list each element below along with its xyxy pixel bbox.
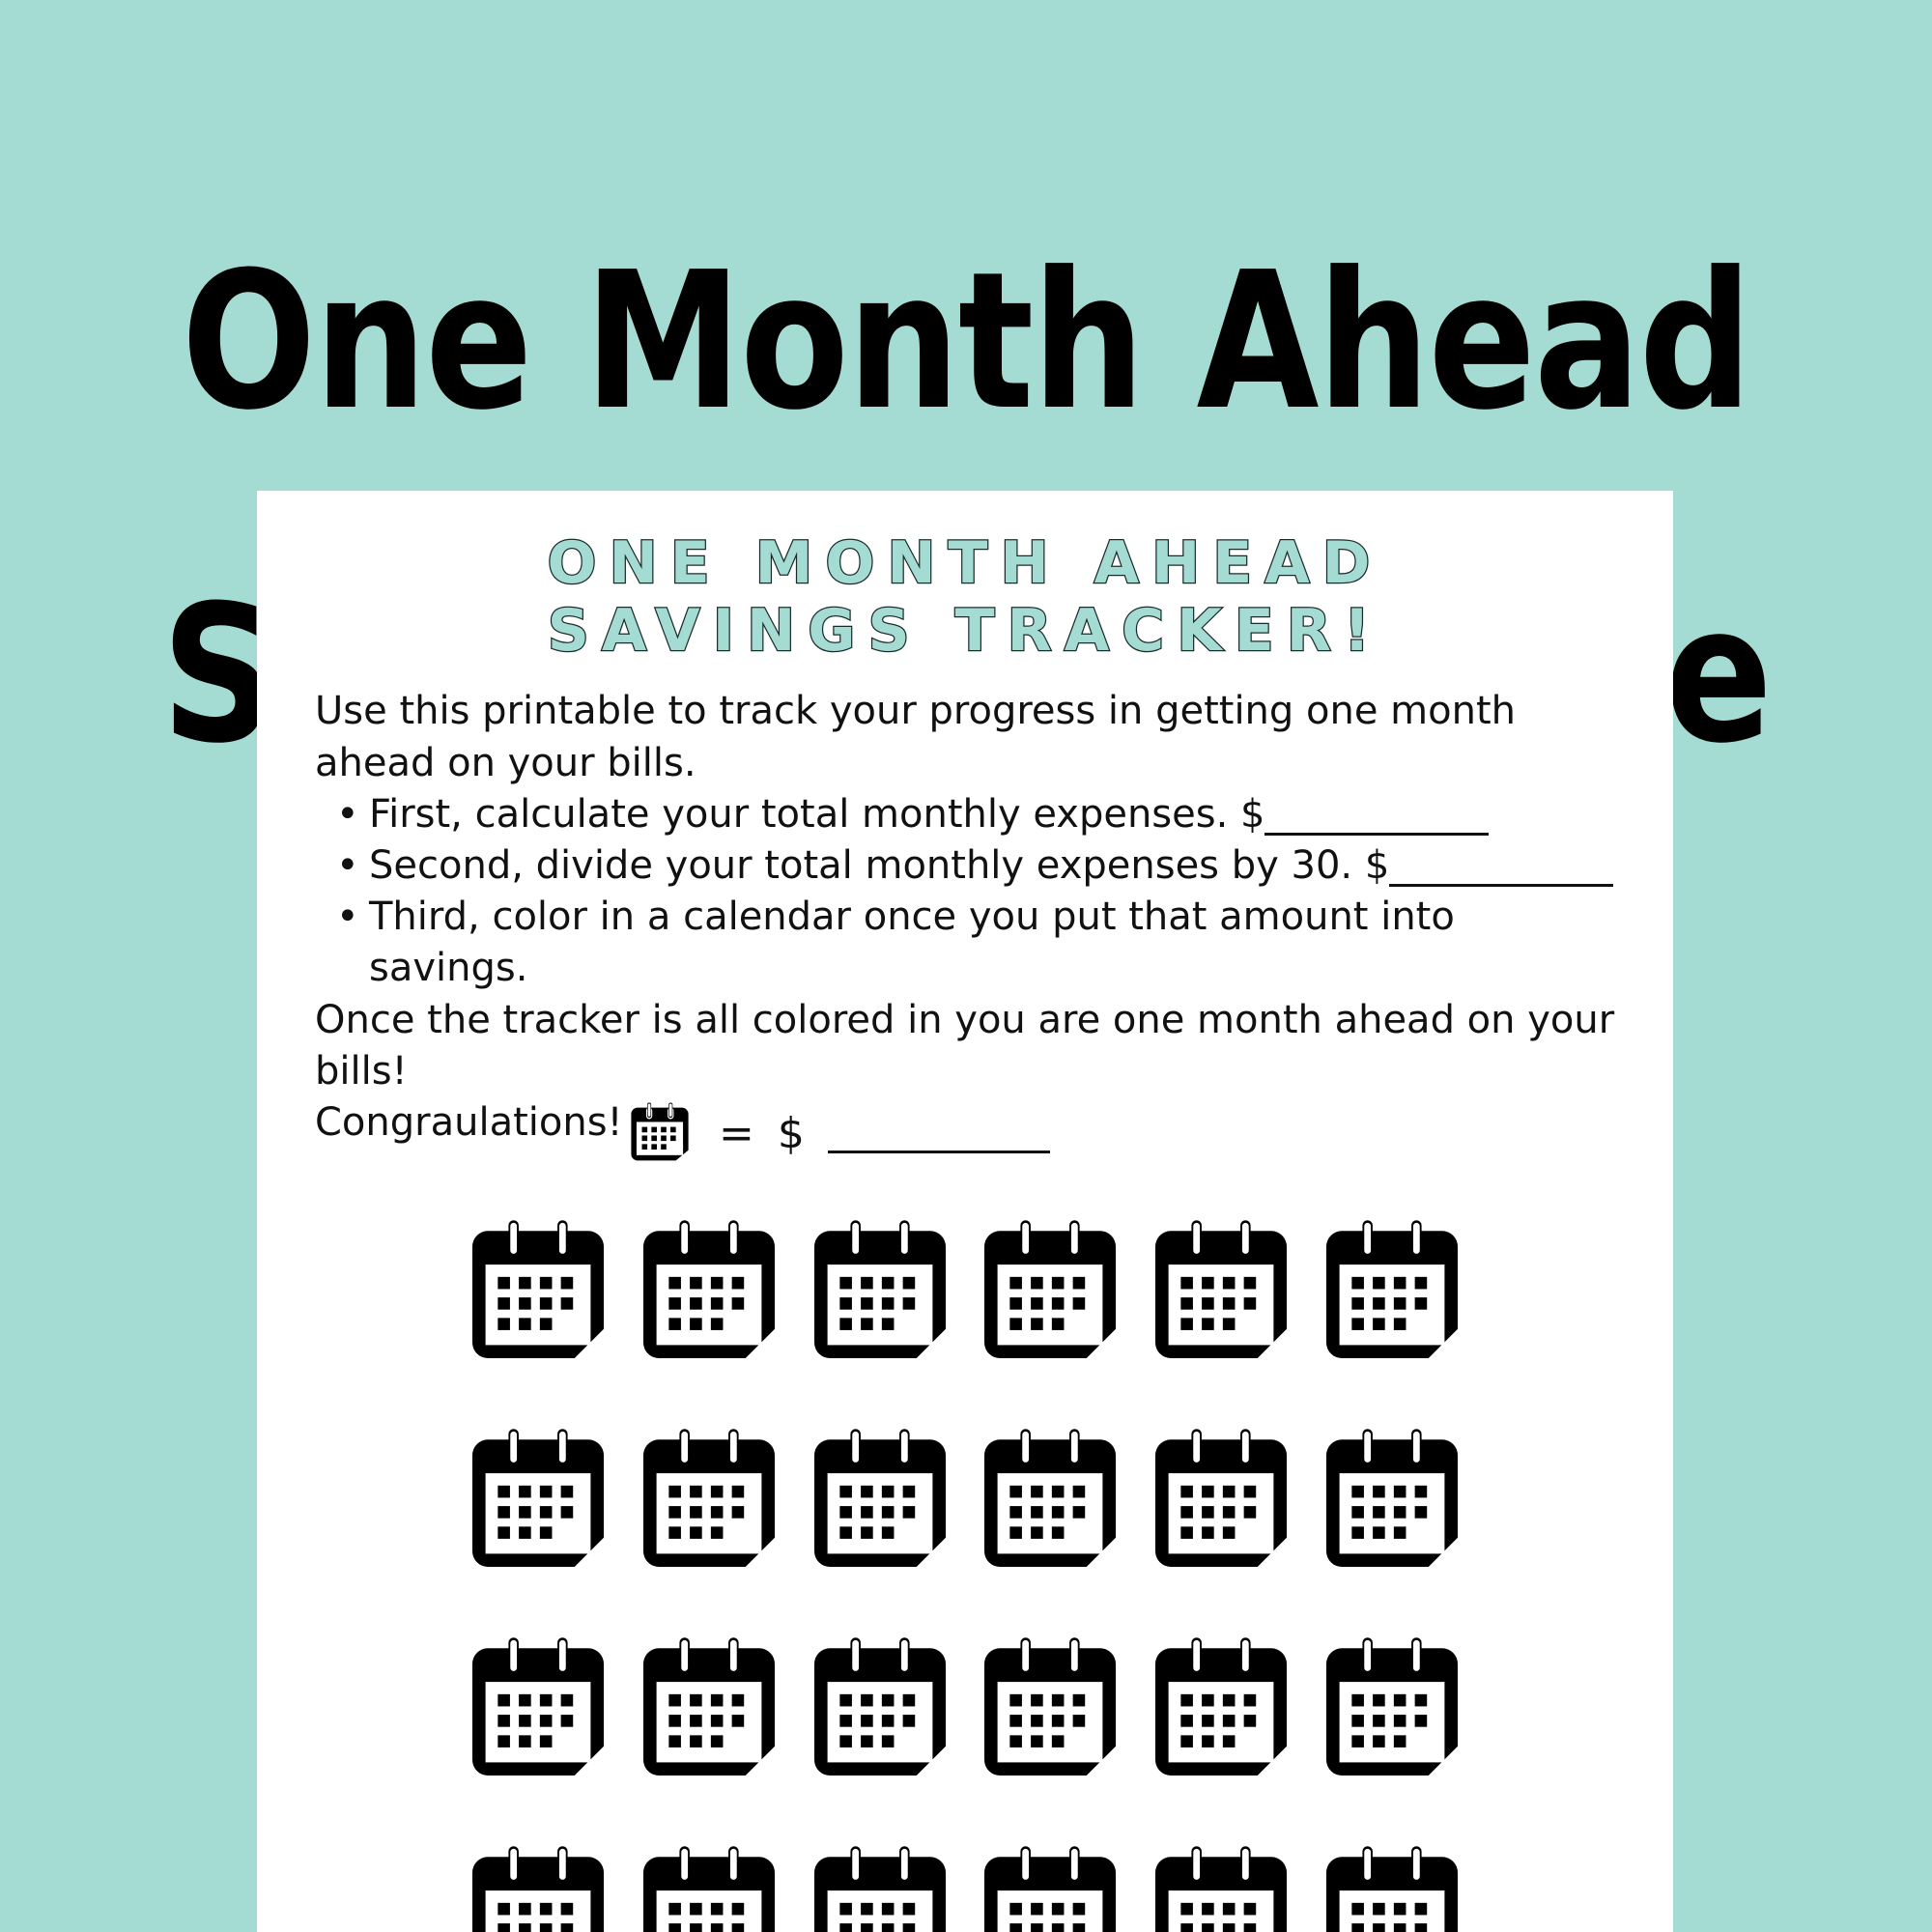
tracker-calendar-9[interactable]	[798, 1419, 962, 1583]
calendar-icon	[968, 1628, 1132, 1792]
list-item: • Third, color in a calendar once you pu…	[315, 892, 1615, 994]
tracker-calendar-4[interactable]	[968, 1210, 1132, 1375]
calendar-icon	[456, 1836, 620, 1932]
list-item: • First, calculate your total monthly ex…	[315, 789, 1615, 840]
calendar-icon	[968, 1836, 1132, 1932]
calendar-icon	[1139, 1419, 1303, 1583]
tracker-calendar-5[interactable]	[1139, 1210, 1303, 1375]
legend-blank-field[interactable]	[828, 1115, 1050, 1153]
tracker-calendar-20[interactable]	[627, 1836, 791, 1932]
tracker-calendar-15[interactable]	[798, 1628, 962, 1792]
calendar-icon	[798, 1210, 962, 1375]
tracker-calendar-19[interactable]	[456, 1836, 620, 1932]
calendar-icon	[1310, 1419, 1474, 1583]
calendar-icon	[798, 1628, 962, 1792]
tracker-calendar-18[interactable]	[1310, 1628, 1474, 1792]
tracker-calendar-13[interactable]	[456, 1628, 620, 1792]
legend-row: = $	[315, 1093, 1615, 1176]
intro-paragraph: Use this printable to track your progres…	[315, 686, 1615, 788]
tracker-calendar-23[interactable]	[1139, 1836, 1303, 1932]
tracker-calendar-7[interactable]	[456, 1419, 620, 1583]
calendar-icon	[627, 1210, 791, 1375]
tracker-calendar-24[interactable]	[1310, 1836, 1474, 1932]
steps-list: • First, calculate your total monthly ex…	[315, 789, 1615, 995]
tracker-calendar-12[interactable]	[1310, 1419, 1474, 1583]
calendar-icon	[456, 1210, 620, 1375]
tracker-calendar-17[interactable]	[1139, 1628, 1303, 1792]
step-text: Third, color in a calendar once you put …	[369, 895, 1455, 990]
calendar-icon	[624, 1098, 696, 1170]
tracker-heading: ONE MONTH AHEAD SAVINGS TRACKER!	[257, 529, 1673, 665]
calendar-icon	[456, 1419, 620, 1583]
calendar-icon	[798, 1419, 962, 1583]
tracker-calendar-11[interactable]	[1139, 1419, 1303, 1583]
calendar-icon	[968, 1419, 1132, 1583]
tracker-calendar-8[interactable]	[627, 1419, 791, 1583]
calendar-icon	[627, 1628, 791, 1792]
calendar-icon	[1139, 1628, 1303, 1792]
instructions: Use this printable to track your progres…	[257, 686, 1673, 1176]
step-text: Second, divide your total monthly expens…	[369, 843, 1389, 888]
tracker-calendar-16[interactable]	[968, 1628, 1132, 1792]
bullet-icon: •	[336, 840, 359, 892]
calendar-icon	[1310, 1628, 1474, 1792]
outro-paragraph-line-1: Once the tracker is all colored in you a…	[315, 995, 1615, 1097]
tracker-calendar-22[interactable]	[968, 1836, 1132, 1932]
step-text: First, calculate your total monthly expe…	[369, 792, 1264, 837]
tracker-calendar-14[interactable]	[627, 1628, 791, 1792]
tracker-calendar-3[interactable]	[798, 1210, 962, 1375]
calendar-icon	[1139, 1836, 1303, 1932]
tracker-calendar-2[interactable]	[627, 1210, 791, 1375]
bullet-icon: •	[336, 892, 359, 943]
amount-blank-field[interactable]	[1264, 797, 1489, 836]
list-item: • Second, divide your total monthly expe…	[315, 840, 1615, 892]
tracker-grid	[453, 1210, 1477, 1932]
equals-sign: =	[719, 1113, 754, 1155]
calendar-icon	[627, 1836, 791, 1932]
tracker-calendar-6[interactable]	[1310, 1210, 1474, 1375]
page-title-line-1: One Month Ahead	[68, 259, 1864, 425]
calendar-icon	[627, 1419, 791, 1583]
calendar-icon	[1139, 1210, 1303, 1375]
calendar-icon	[798, 1836, 962, 1932]
tracker-calendar-10[interactable]	[968, 1419, 1132, 1583]
bullet-icon: •	[336, 789, 359, 840]
calendar-icon	[968, 1210, 1132, 1375]
calendar-icon	[456, 1628, 620, 1792]
tracker-calendar-1[interactable]	[456, 1210, 620, 1375]
tracker-heading-line-2: SAVINGS TRACKER!	[257, 597, 1673, 665]
daily-amount-blank-field[interactable]	[1389, 848, 1613, 887]
tracker-heading-line-1: ONE MONTH AHEAD	[257, 529, 1673, 597]
calendar-icon	[1310, 1210, 1474, 1375]
tracker-calendar-21[interactable]	[798, 1836, 962, 1932]
currency-symbol: $	[778, 1113, 805, 1155]
calendar-icon	[1310, 1836, 1474, 1932]
printable-card: ONE MONTH AHEAD SAVINGS TRACKER! Use thi…	[257, 491, 1673, 1932]
